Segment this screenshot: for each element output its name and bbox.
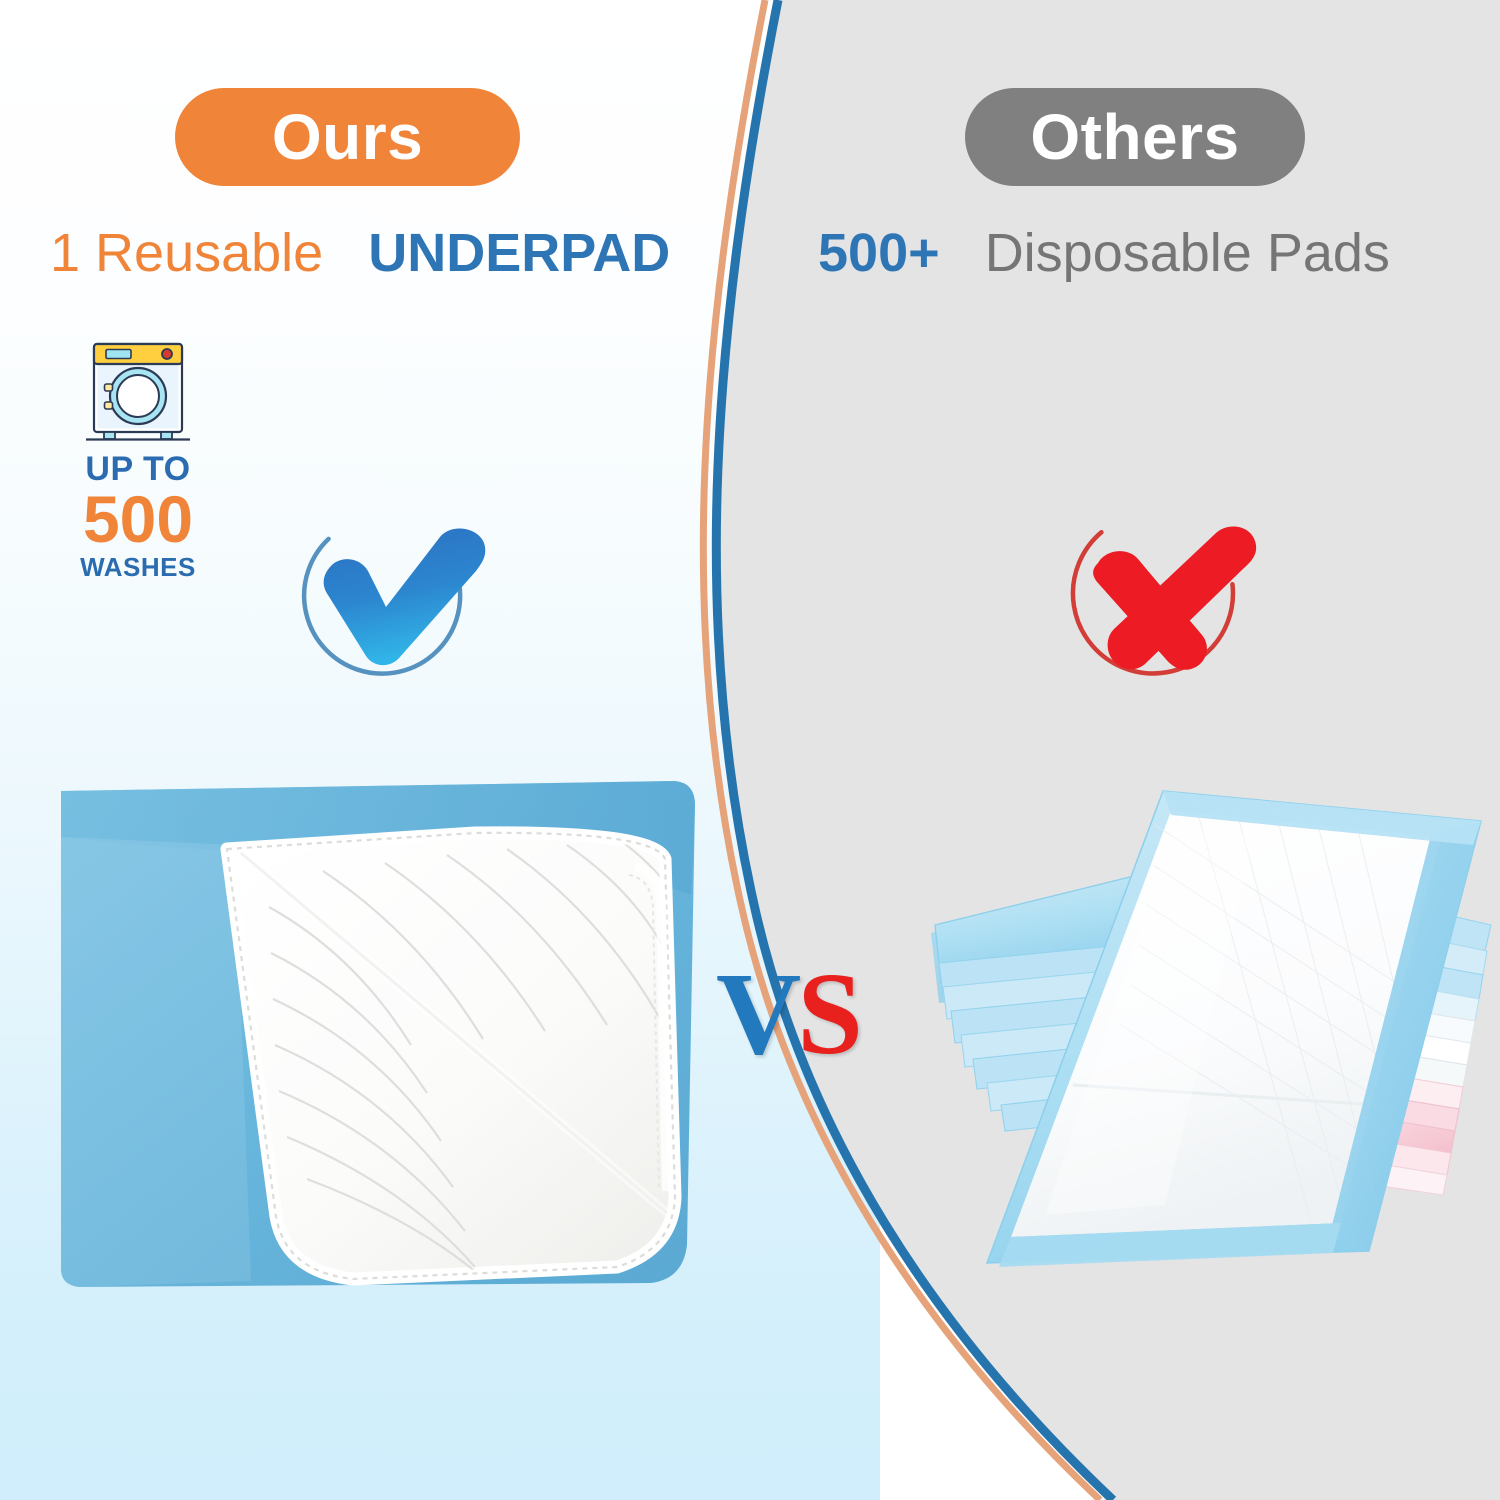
versus-label: VS [716,955,859,1073]
others-headline-highlight: 500+ [818,223,940,283]
wash-claim-number: 500 [58,488,218,551]
versus-first-letter: V [716,948,797,1079]
versus-second-letter: S [797,948,859,1079]
others-headline-rest: Disposable Pads [985,223,1390,283]
others-headline: 500+ Disposable Pads [818,222,1390,284]
wash-claim-suffix: WASHES [58,553,218,582]
ours-badge: Ours [175,88,520,186]
wash-claim-block: UP TO 500 WASHES [58,338,218,581]
washing-machine-icon [82,338,194,446]
check-mark-icon [288,505,518,715]
cross-mark-icon [1058,505,1288,715]
ours-headline-rest: UNDERPAD [368,223,670,283]
reusable-underpad-photo [55,775,700,1295]
wash-claim-prefix: UP TO [58,452,218,486]
disposable-pads-photo [925,785,1495,1295]
comparison-infographic: Ours 1 Reusable UNDERPAD UP TO 5 [0,0,1500,1500]
others-badge: Others [965,88,1305,186]
ours-headline-highlight: 1 Reusable [50,223,323,283]
ours-headline: 1 Reusable UNDERPAD [50,222,670,284]
